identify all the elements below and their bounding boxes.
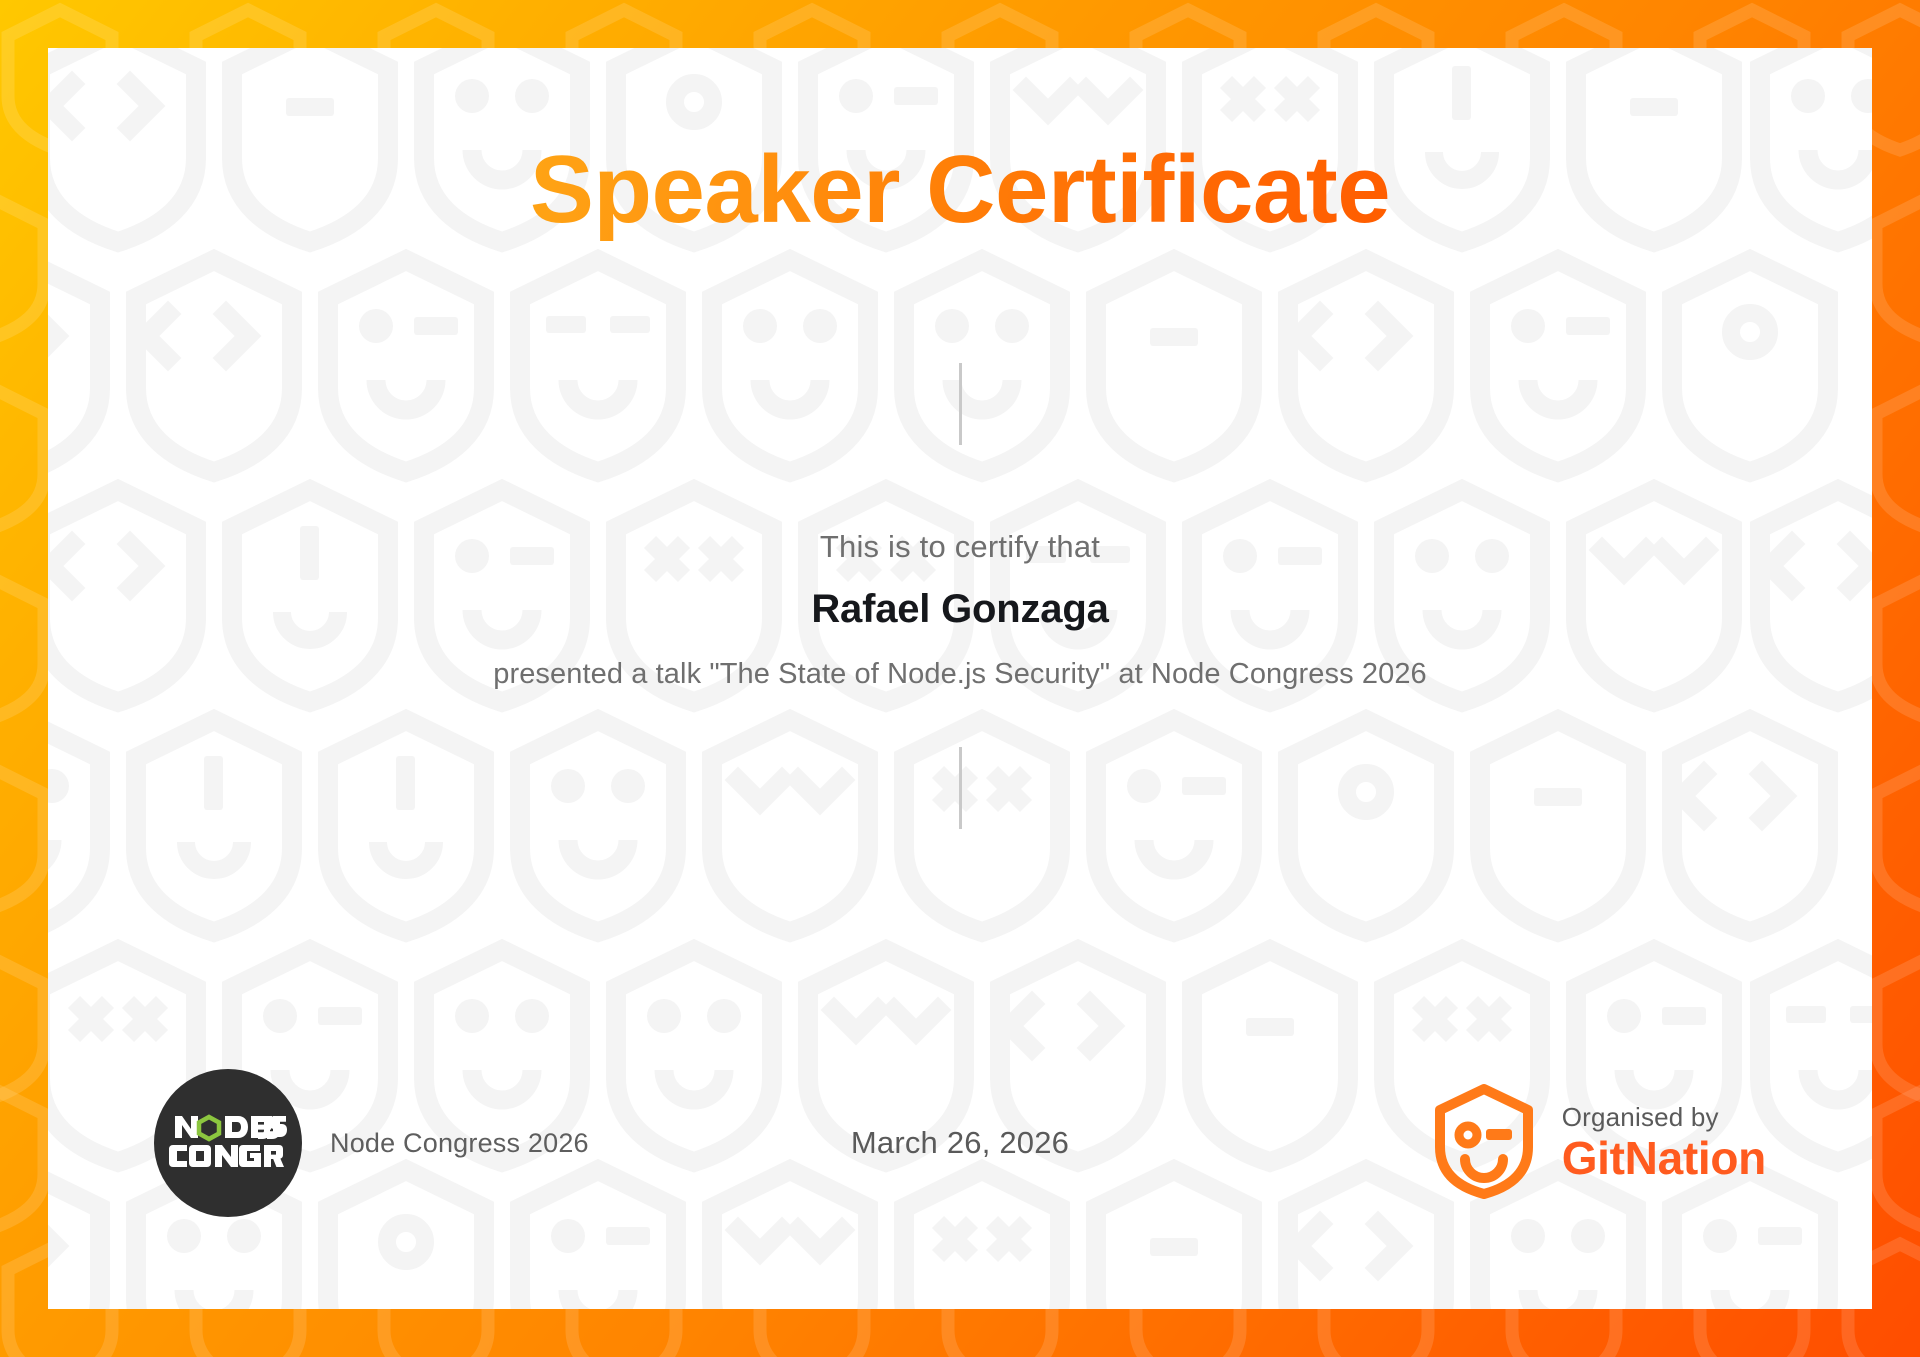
organiser-name: GitNation <box>1562 1133 1766 1184</box>
divider-top <box>959 363 962 445</box>
organiser-branding: Organised by GitNation <box>1229 1083 1766 1204</box>
certificate-body: This is to certify that Rafael Gonzaga p… <box>48 529 1872 691</box>
talk-description: presented a talk "The State of Node.js S… <box>48 658 1872 691</box>
recipient-name: Rafael Gonzaga <box>48 587 1872 632</box>
page-title: Speaker Certificate <box>530 140 1390 241</box>
issue-date-container: March 26, 2026 <box>691 1125 1228 1161</box>
gitnation-shield-icon <box>1432 1083 1536 1204</box>
event-name-label: Node Congress 2026 <box>330 1128 589 1159</box>
event-branding: Node Congress 2026 <box>154 1069 691 1217</box>
certificate-card: Speaker Certificate This is to certify t… <box>48 48 1872 1309</box>
certificate-footer: Node Congress 2026 March 26, 2026 <box>48 1073 1872 1213</box>
issue-date: March 26, 2026 <box>851 1125 1069 1161</box>
certify-statement: This is to certify that <box>48 529 1872 565</box>
certificate-frame: Speaker Certificate This is to certify t… <box>0 0 1920 1357</box>
node-congress-logo-icon <box>154 1069 302 1217</box>
organised-by-label: Organised by <box>1562 1103 1766 1133</box>
divider-bottom <box>959 747 962 829</box>
